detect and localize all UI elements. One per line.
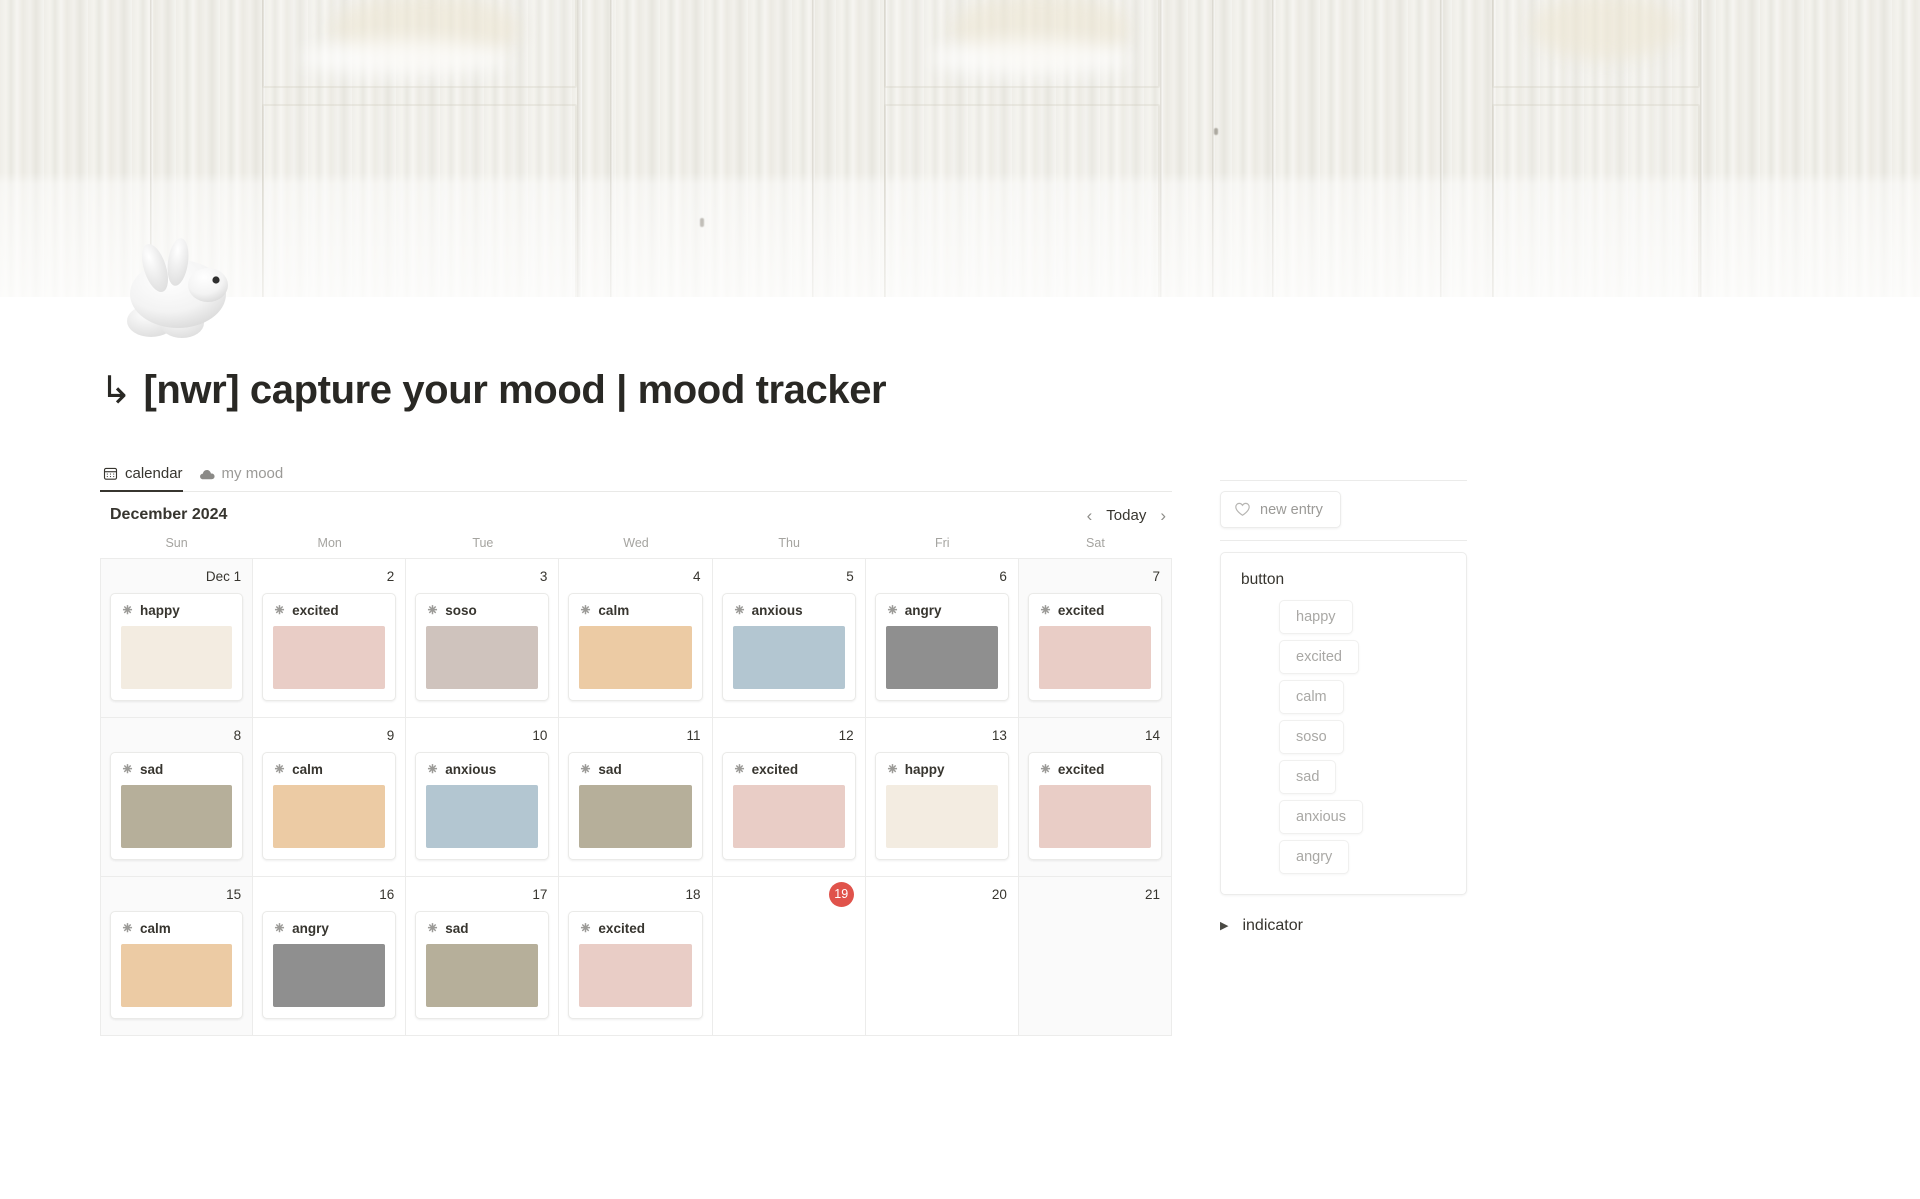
calendar-header: December 2024 ‹ Today › [100, 492, 1172, 536]
mood-entry-card[interactable]: sad [415, 911, 549, 1019]
calendar-day-cell[interactable]: 13happy [866, 718, 1019, 876]
mood-entry-label: sad [140, 762, 163, 777]
mood-button-anxious[interactable]: anxious [1279, 800, 1363, 834]
mood-entry-label: soso [445, 603, 477, 618]
mood-entry-label: excited [752, 762, 799, 777]
mood-entry-title: excited [1039, 762, 1151, 777]
weekday-header-sat: Sat [1019, 536, 1172, 550]
asterisk-icon [733, 604, 746, 617]
calendar-day-cell[interactable]: 6angry [866, 559, 1019, 717]
mood-button-excited[interactable]: excited [1279, 640, 1359, 674]
mood-entry-label: sad [598, 762, 621, 777]
button-card-title: button [1241, 571, 1446, 589]
asterisk-icon [579, 763, 592, 776]
mood-entry-card[interactable]: excited [262, 593, 396, 701]
day-number-row: 18 [559, 877, 711, 911]
mood-entry-title: anxious [426, 762, 538, 777]
new-entry-label: new entry [1260, 502, 1323, 518]
mood-entry-card[interactable]: calm [110, 911, 243, 1019]
calendar-weekday-headers: SunMonTueWedThuFriSat [100, 536, 1172, 558]
mood-entry-title: happy [121, 603, 232, 618]
mood-entry-title: excited [733, 762, 845, 777]
mood-color-swatch [733, 785, 845, 848]
calendar-day-cell[interactable]: 3soso [406, 559, 559, 717]
calendar-month-label: December 2024 [110, 506, 227, 524]
asterisk-icon [426, 604, 439, 617]
new-entry-button[interactable]: new entry [1220, 491, 1341, 528]
mood-entry-label: happy [140, 603, 180, 618]
asterisk-icon [121, 922, 134, 935]
asterisk-icon [886, 604, 899, 617]
day-number-row: 14 [1019, 718, 1171, 752]
mood-entry-title: calm [121, 921, 232, 936]
mood-entry-title: excited [1039, 603, 1151, 618]
mood-entry-title: sad [426, 921, 538, 936]
asterisk-icon [886, 763, 899, 776]
mood-color-swatch [1039, 785, 1151, 848]
calendar-icon [102, 466, 118, 482]
calendar-week-row: 15calm16angry17sad18excited192021 [100, 877, 1172, 1036]
weekday-header-thu: Thu [713, 536, 866, 550]
mood-entry-title: soso [426, 603, 538, 618]
indicator-label: indicator [1242, 917, 1302, 935]
calendar-day-cell[interactable]: 4calm [559, 559, 712, 717]
calendar-view: December 2024 ‹ Today › SunMonTueWedThuF… [100, 492, 1172, 1036]
day-number-row: 10 [406, 718, 558, 752]
tab-my-mood-label: my mood [222, 465, 284, 482]
mood-color-swatch [579, 626, 691, 689]
day-number-row: 2 [253, 559, 405, 593]
day-number-row: 4 [559, 559, 711, 593]
triangle-right-icon[interactable]: ▶ [1220, 921, 1228, 932]
mood-entry-label: happy [905, 762, 945, 777]
next-month-button[interactable]: › [1160, 507, 1166, 524]
day-number-row: 3 [406, 559, 558, 593]
mood-color-swatch [121, 626, 232, 689]
mood-entry-card[interactable]: anxious [415, 752, 549, 860]
calendar-day-cell[interactable]: 7excited [1019, 559, 1172, 717]
child-page-arrow-icon: ↳ [100, 368, 131, 413]
mood-entry-card[interactable]: excited [568, 911, 702, 1019]
calendar-day-cell[interactable]: 18excited [559, 877, 712, 1035]
mood-color-swatch [121, 785, 232, 848]
mood-color-swatch [886, 626, 998, 689]
mood-entry-title: excited [579, 921, 691, 936]
asterisk-icon [579, 604, 592, 617]
calendar-day-cell[interactable]: 15calm [100, 877, 253, 1035]
calendar-day-cell[interactable]: 16angry [253, 877, 406, 1035]
day-number-row: 11 [559, 718, 711, 752]
mood-entry-card[interactable]: anxious [722, 593, 856, 701]
mood-entry-title: angry [273, 921, 385, 936]
mood-button-list: happyexcitedcalmsososadanxiousangry [1241, 600, 1446, 874]
day-number: 6 [999, 569, 1007, 584]
calendar-week-row: Dec 1happy2excited3soso4calm5anxious6ang… [100, 559, 1172, 718]
calendar-day-cell[interactable]: 8sad [100, 718, 253, 876]
new-entry-row: new entry [1220, 481, 1467, 540]
mood-entry-label: angry [905, 603, 942, 618]
mood-color-swatch [426, 944, 538, 1007]
divider-bottom [1220, 540, 1467, 541]
mood-entry-title: calm [273, 762, 385, 777]
mood-color-swatch [273, 944, 385, 1007]
day-number: 21 [1145, 887, 1160, 902]
mood-entry-label: angry [292, 921, 329, 936]
day-number-row: 16 [253, 877, 405, 911]
mood-color-swatch [426, 785, 538, 848]
mood-entry-label: calm [140, 921, 171, 936]
day-number: 20 [992, 887, 1007, 902]
calendar-day-cell[interactable]: 10anxious [406, 718, 559, 876]
page-title: ↳[nwr] capture your mood | mood tracker [100, 368, 886, 413]
mood-entry-card[interactable]: sad [110, 752, 243, 860]
calendar-navigation: ‹ Today › [1087, 507, 1166, 524]
mood-button-calm[interactable]: calm [1279, 680, 1344, 714]
mood-entry-label: excited [1058, 603, 1105, 618]
day-number-row: 9 [253, 718, 405, 752]
day-number-row: 19 [713, 877, 865, 911]
day-number: 8 [234, 728, 242, 743]
mood-button-angry[interactable]: angry [1279, 840, 1349, 874]
day-number-row: 8 [101, 718, 252, 752]
mood-entry-card[interactable]: angry [875, 593, 1009, 701]
calendar-day-cell[interactable]: 14excited [1019, 718, 1172, 876]
mood-entry-card[interactable]: angry [262, 911, 396, 1019]
day-number: 12 [839, 728, 854, 743]
weekday-header-tue: Tue [406, 536, 559, 550]
asterisk-icon [733, 763, 746, 776]
mood-color-swatch [1039, 626, 1151, 689]
mood-color-swatch [121, 944, 232, 1007]
today-date-badge: 19 [829, 882, 854, 907]
calendar-day-cell[interactable]: 9calm [253, 718, 406, 876]
day-number-row: 17 [406, 877, 558, 911]
calendar-day-cell[interactable]: 21 [1019, 877, 1172, 1035]
calendar-day-cell[interactable]: 11sad [559, 718, 712, 876]
mood-entry-title: sad [121, 762, 232, 777]
day-number-row: 20 [866, 877, 1018, 911]
calendar-day-cell[interactable]: 19 [713, 877, 866, 1035]
asterisk-icon [121, 763, 134, 776]
day-number: 7 [1152, 569, 1160, 584]
mood-entry-label: sad [445, 921, 468, 936]
mood-entry-label: anxious [445, 762, 496, 777]
asterisk-icon [579, 922, 592, 935]
mood-entry-card[interactable]: excited [1028, 752, 1162, 860]
tab-calendar[interactable]: calendar [100, 465, 191, 491]
day-number-row: 21 [1019, 877, 1171, 911]
day-number: 4 [693, 569, 701, 584]
weekday-header-wed: Wed [559, 536, 712, 550]
weekday-header-sun: Sun [100, 536, 253, 550]
day-number-row: Dec 1 [101, 559, 252, 593]
mood-color-swatch [579, 944, 691, 1007]
mood-color-swatch [733, 626, 845, 689]
page-cover-image [0, 0, 1920, 297]
calendar-day-cell[interactable]: 5anxious [713, 559, 866, 717]
mood-entry-label: calm [598, 603, 629, 618]
calendar-day-cell[interactable]: 12excited [713, 718, 866, 876]
mood-entry-title: excited [273, 603, 385, 618]
heart-icon [1234, 501, 1251, 518]
day-number-row: 6 [866, 559, 1018, 593]
mood-entry-card[interactable]: calm [568, 593, 702, 701]
calendar-weeks: Dec 1happy2excited3soso4calm5anxious6ang… [100, 558, 1172, 1036]
day-number: 13 [992, 728, 1007, 743]
asterisk-icon [273, 604, 286, 617]
asterisk-icon [1039, 763, 1052, 776]
mood-entry-title: angry [886, 603, 998, 618]
mood-entry-label: excited [598, 921, 645, 936]
mood-button-soso[interactable]: soso [1279, 720, 1344, 754]
day-number: 15 [226, 887, 241, 902]
mood-color-swatch [273, 626, 385, 689]
asterisk-icon [426, 922, 439, 935]
day-number-row: 13 [866, 718, 1018, 752]
mood-entry-card[interactable]: soso [415, 593, 549, 701]
calendar-day-cell[interactable]: 2excited [253, 559, 406, 717]
asterisk-icon [1039, 604, 1052, 617]
mood-entry-card[interactable]: calm [262, 752, 396, 860]
mood-color-swatch [273, 785, 385, 848]
today-button[interactable]: Today [1106, 507, 1146, 524]
mood-entry-card[interactable]: happy [110, 593, 243, 701]
day-number: Dec 1 [206, 569, 241, 584]
day-number: 3 [540, 569, 548, 584]
weekday-header-mon: Mon [253, 536, 406, 550]
mood-button-sad[interactable]: sad [1279, 760, 1336, 794]
asterisk-icon [273, 763, 286, 776]
indicator-toggle[interactable]: ▶ indicator [1220, 917, 1467, 935]
mood-entry-title: calm [579, 603, 691, 618]
mood-color-swatch [426, 626, 538, 689]
mood-entry-label: excited [1058, 762, 1105, 777]
day-number-row: 5 [713, 559, 865, 593]
mood-entry-card[interactable]: excited [1028, 593, 1162, 701]
prev-month-button[interactable]: ‹ [1087, 507, 1093, 524]
day-number: 10 [532, 728, 547, 743]
mood-button-happy[interactable]: happy [1279, 600, 1353, 634]
asterisk-icon [426, 763, 439, 776]
page-title-text: [nwr] capture your mood | mood tracker [143, 368, 886, 412]
mood-entry-card[interactable]: sad [568, 752, 702, 860]
calendar-day-cell[interactable]: Dec 1happy [100, 559, 253, 717]
day-number: 18 [686, 887, 701, 902]
calendar-day-cell[interactable]: 20 [866, 877, 1019, 1035]
mood-entry-title: sad [579, 762, 691, 777]
weekday-header-fri: Fri [866, 536, 1019, 550]
day-number: 14 [1145, 728, 1160, 743]
day-number: 5 [846, 569, 854, 584]
cloud-icon [199, 466, 215, 482]
view-tabs: calendar my mood [100, 456, 1172, 492]
mood-entry-label: anxious [752, 603, 803, 618]
tab-calendar-label: calendar [125, 465, 183, 482]
mood-entry-card[interactable]: excited [722, 752, 856, 860]
mood-entry-title: happy [886, 762, 998, 777]
calendar-day-cell[interactable]: 17sad [406, 877, 559, 1035]
mood-entry-label: excited [292, 603, 339, 618]
day-number: 16 [379, 887, 394, 902]
day-number-row: 7 [1019, 559, 1171, 593]
bunny-icon[interactable] [108, 222, 244, 346]
day-number-row: 15 [101, 877, 252, 911]
day-number-row: 12 [713, 718, 865, 752]
day-number: 11 [687, 728, 701, 743]
mood-entry-card[interactable]: happy [875, 752, 1009, 860]
asterisk-icon [121, 604, 134, 617]
day-number: 2 [387, 569, 395, 584]
button-card: button happyexcitedcalmsososadanxiousang… [1220, 552, 1467, 895]
asterisk-icon [273, 922, 286, 935]
mood-entry-title: anxious [733, 603, 845, 618]
mood-entry-label: calm [292, 762, 323, 777]
right-panel: new entry button happyexcitedcalmsososad… [1220, 480, 1467, 935]
day-number: 9 [387, 728, 395, 743]
mood-color-swatch [886, 785, 998, 848]
calendar-week-row: 8sad9calm10anxious11sad12excited13happy1… [100, 718, 1172, 877]
tab-my-mood[interactable]: my mood [197, 465, 292, 491]
mood-color-swatch [579, 785, 691, 848]
day-number: 17 [532, 887, 547, 902]
